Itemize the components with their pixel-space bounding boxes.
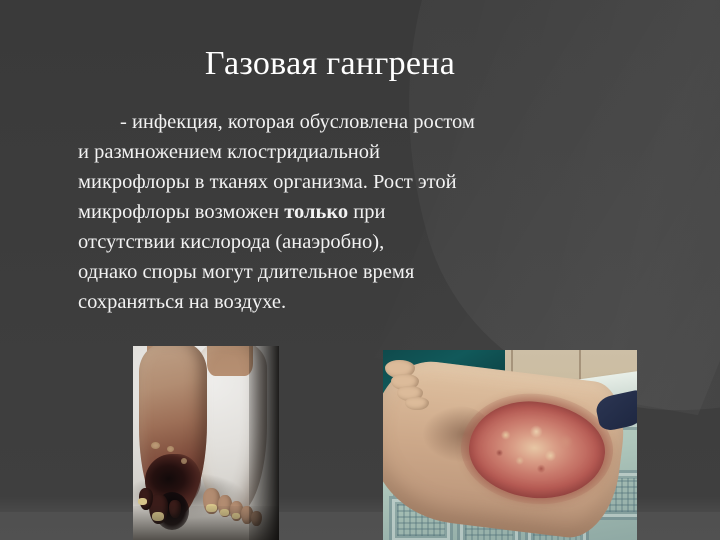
body-line-5: отсутствии кислорода (анаэробно),: [78, 227, 578, 257]
gangrenous-feet-photo: [133, 346, 279, 540]
presentation-slide: Газовая гангрена - инфекция, которая обу…: [0, 0, 720, 540]
body-line-6: однако споры могут длительное время: [78, 257, 578, 287]
blister: [167, 446, 174, 452]
granulation-tissue: [476, 407, 598, 493]
body-line-1: - инфекция, которая обусловлена ростом: [78, 107, 578, 137]
body-line-4-suffix: при: [348, 201, 385, 223]
blister: [151, 442, 160, 449]
toenail: [138, 498, 147, 505]
blister: [181, 458, 187, 464]
body-line-7: сохраняться на воздухе.: [78, 287, 578, 317]
body-line-4: микрофлоры возможен только при: [78, 197, 578, 227]
patient-toes: [383, 356, 443, 408]
body-line-2: и размножением клостридиальной: [78, 137, 578, 167]
photo-right-shading: [249, 346, 279, 540]
slide-title: Газовая гангрена: [0, 44, 660, 84]
slide-body-text: - инфекция, которая обусловлена ростом и…: [78, 107, 578, 317]
body-line-3: микрофлоры в тканях организма. Рост этой: [78, 167, 578, 197]
necrotic-leg-wound-photo: [383, 350, 637, 540]
body-line-4-emphasis: только: [284, 201, 348, 223]
body-line-4-prefix: микрофлоры возможен: [78, 201, 284, 223]
toe: [405, 397, 429, 410]
